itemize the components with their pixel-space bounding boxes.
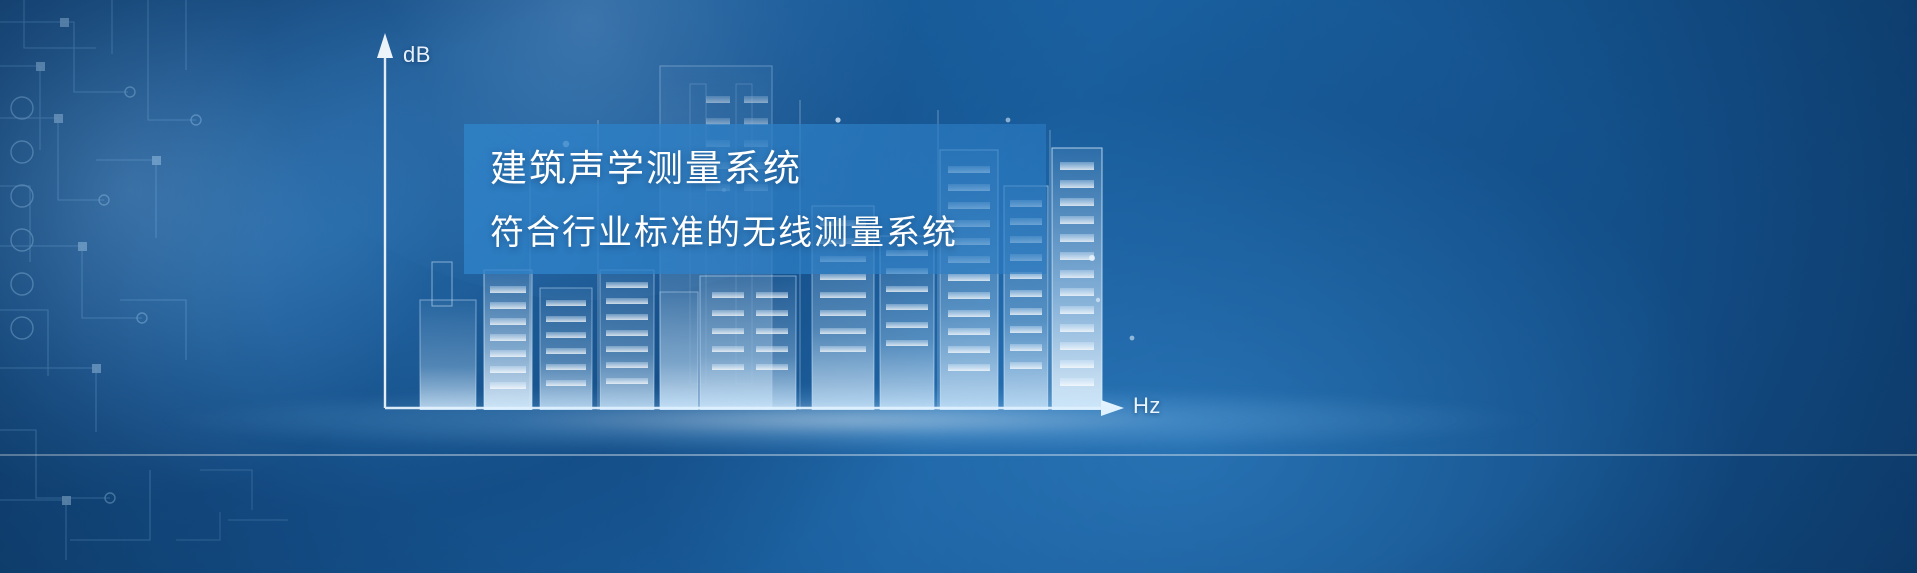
arrow-up-icon — [377, 33, 393, 58]
x-axis-label: Hz — [1133, 393, 1161, 419]
hero-banner: 建筑声学测量系统 符合行业标准的无线测量系统 dB Hz — [0, 0, 1917, 573]
page-subtitle: 符合行业标准的无线测量系统 — [490, 216, 1190, 250]
audio-waveform — [0, 333, 1917, 573]
y-axis-label: dB — [403, 42, 431, 68]
page-title: 建筑声学测量系统 — [490, 150, 1110, 187]
